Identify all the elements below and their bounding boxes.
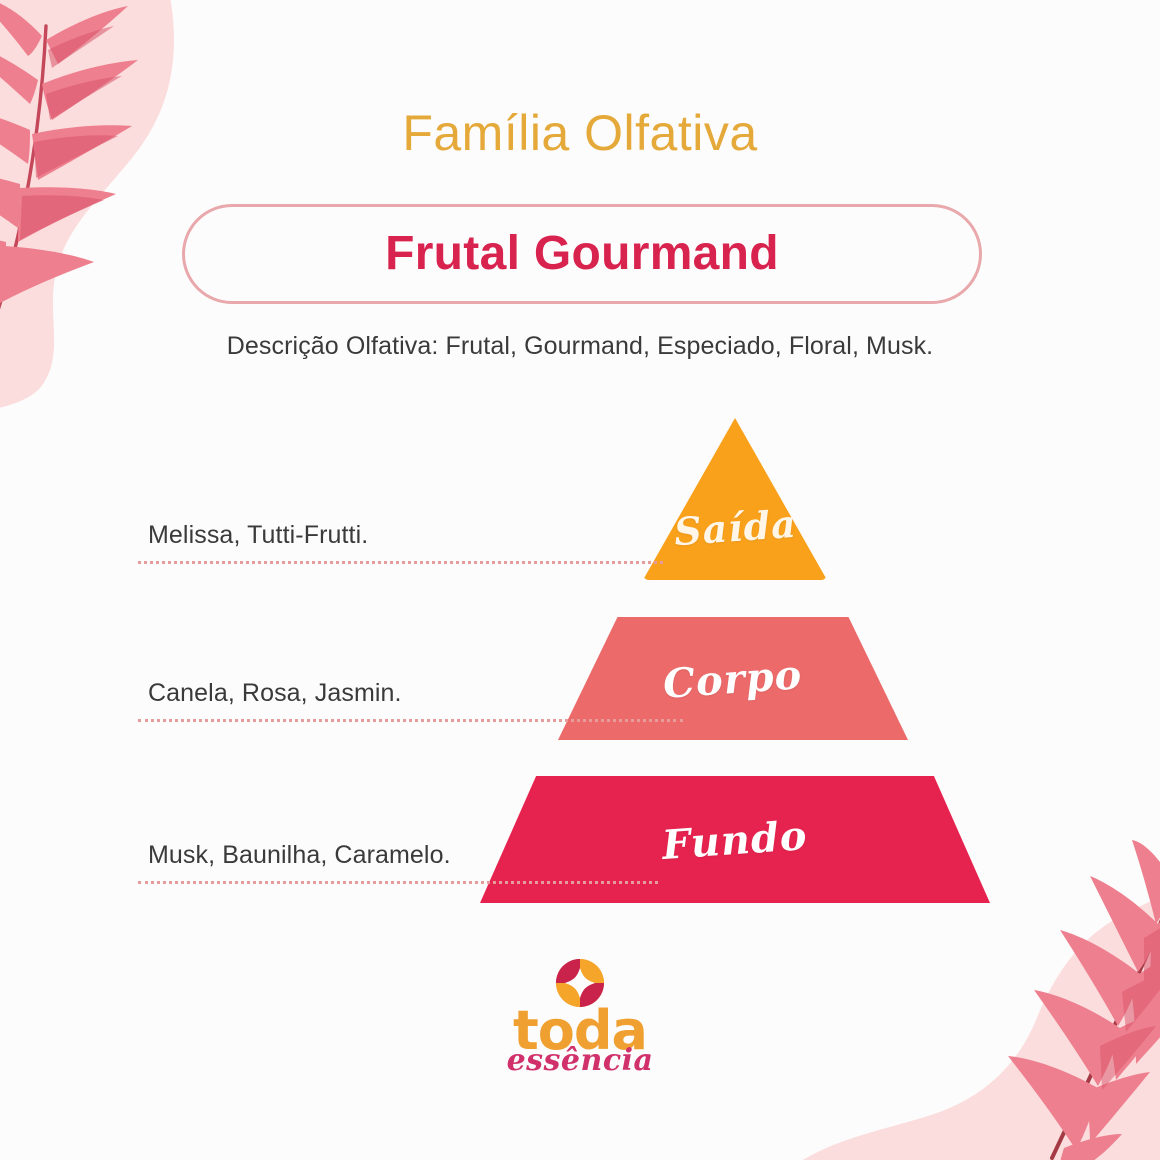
dotted-rule-fundo (138, 881, 658, 884)
brand-logo: toda essência (0, 958, 1160, 1076)
dotted-rule-saida (138, 561, 663, 564)
notes-text-corpo: Canela, Rosa, Jasmin. (148, 681, 402, 706)
notes-row-corpo: Canela, Rosa, Jasmin. (148, 681, 402, 706)
tier-label-saida: Saída (672, 500, 798, 553)
triangle-shape-saida (643, 418, 827, 580)
dotted-rule-corpo (138, 719, 683, 722)
notes-row-fundo: Musk, Baunilha, Caramelo. (148, 843, 451, 868)
pyramid-tier-saida: Saída (643, 418, 827, 580)
notes-row-saida: Melissa, Tutti-Frutti. (148, 523, 368, 548)
notes-text-saida: Melissa, Tutti-Frutti. (148, 523, 368, 548)
brand-tagline: essência (507, 1046, 654, 1076)
tier-label-corpo: Corpo (662, 651, 804, 708)
notes-text-fundo: Musk, Baunilha, Caramelo. (148, 843, 451, 868)
poster-canvas: Família Olfativa Frutal Gourmand Descriç… (0, 0, 1160, 1160)
